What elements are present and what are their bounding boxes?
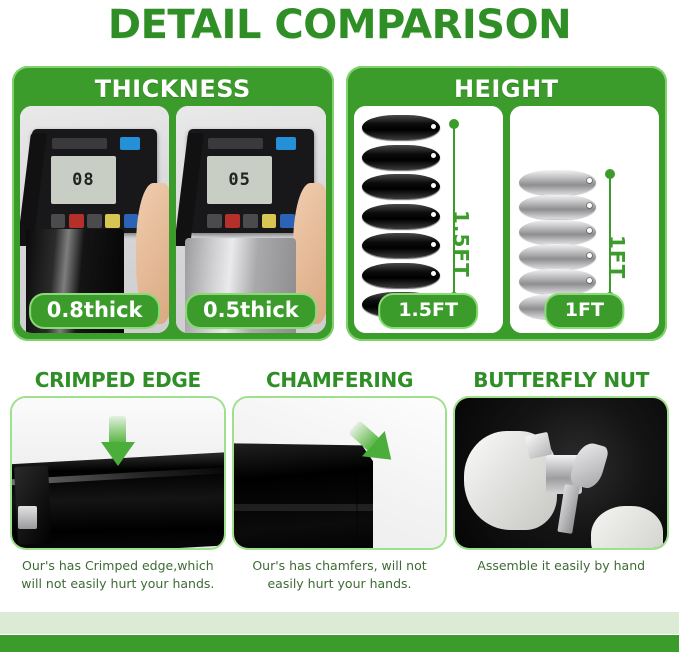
feature-image-butterfly-nut: [455, 398, 667, 548]
height-others-card: OTHER'S: [510, 106, 659, 333]
thickness-ours-badge: 0.8thick: [31, 295, 159, 327]
feature-caption-butterfly-nut: Assemble it easily by hand: [471, 557, 651, 575]
feature-chamfering: CHAMFERING Our's has chamfers, will not …: [234, 368, 446, 598]
comparison-row: THICKNESS OUR'S 08: [12, 66, 667, 341]
down-arrow-icon: [109, 416, 126, 442]
feature-title-butterfly-nut: BUTTERFLY NUT: [473, 368, 649, 392]
height-ours-badge: 1.5FT: [380, 295, 476, 327]
caliper-reading-others: 05: [228, 170, 250, 190]
panel-title-height: HEIGHT: [352, 72, 662, 106]
thickness-others-card: OTHER'S 05: [176, 106, 325, 333]
footer-band-green: [0, 635, 679, 652]
feature-title-chamfering: CHAMFERING: [266, 368, 413, 392]
down-arrow-icon: [101, 442, 135, 466]
feature-image-crimped-edge: [12, 398, 224, 548]
height-others-badge: 1FT: [547, 295, 622, 327]
infographic-page: DETAIL COMPARISON THICKNESS OUR'S: [0, 0, 679, 652]
footer-band-light: [0, 612, 679, 634]
panel-body-height: OUR'S: [352, 106, 662, 335]
comparison-panel-height: HEIGHT OUR'S: [346, 66, 668, 341]
page-title: DETAIL COMPARISON: [0, 2, 679, 48]
feature-title-crimped-edge: CRIMPED EDGE: [35, 368, 201, 392]
feature-caption-crimped-edge: Our's has Crimped edge,which will not ea…: [12, 557, 224, 593]
height-ours-card: OUR'S: [354, 106, 503, 333]
panel-title-thickness: THICKNESS: [18, 72, 328, 106]
thickness-others-badge: 0.5thick: [187, 295, 315, 327]
caliper-display-others: 05: [207, 156, 272, 204]
feature-caption-chamfering: Our's has chamfers, will not easily hurt…: [234, 557, 446, 593]
caliper-reading-ours: 08: [72, 170, 94, 190]
feature-butterfly-nut: BUTTERFLY NUT Assemble it easily by hand: [455, 368, 667, 598]
measure-label-ours: 1.5FT: [449, 210, 473, 278]
feature-crimped-edge: CRIMPED EDGE Our's has Crimped edge,whic…: [12, 368, 224, 598]
feature-image-chamfering: [234, 398, 446, 548]
panel-body-thickness: OUR'S 08: [18, 106, 328, 335]
feature-row: CRIMPED EDGE Our's has Crimped edge,whic…: [12, 368, 667, 598]
caliper-display-ours: 08: [51, 156, 116, 204]
thickness-ours-card: OUR'S 08: [20, 106, 169, 333]
measure-label-others: 1FT: [605, 235, 629, 279]
comparison-panel-thickness: THICKNESS OUR'S 08: [12, 66, 334, 341]
